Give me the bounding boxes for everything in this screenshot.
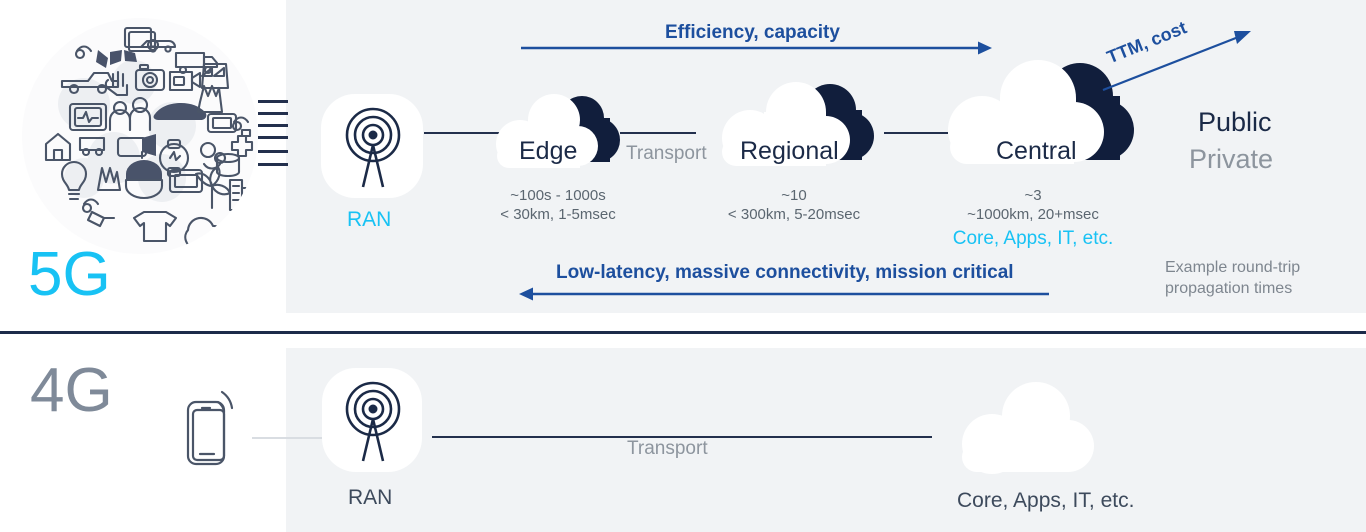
label-5g: 5G: [28, 244, 111, 306]
connector-stripe: [258, 112, 288, 115]
iot-collage-svg: .dv{fill:none;stroke:#4a5568;stroke-widt…: [22, 18, 258, 254]
panel-4g: [286, 348, 1366, 532]
central-count: ~3: [974, 186, 1092, 206]
connector-stripe: [258, 124, 288, 127]
transport-label-5g: Transport: [626, 143, 707, 165]
propagation-note-line2: propagation times: [1165, 278, 1345, 300]
efficiency-capacity-label: Efficiency, capacity: [665, 22, 840, 44]
edge-latency: < 30km, 1-5msec: [487, 205, 629, 225]
central-core-label: Core, Apps, IT, etc.: [944, 226, 1122, 252]
ran-label-4g: RAN: [348, 486, 392, 510]
edge-count: ~100s - 1000s: [499, 186, 617, 206]
cell-tower-icon: [342, 379, 404, 463]
link-phone-ran: [252, 437, 322, 439]
link-edge-regional: [620, 132, 696, 134]
smartphone-signal-icon: [180, 388, 252, 470]
propagation-note-line1: Example round-trip: [1165, 257, 1335, 279]
link-ran-edge: [424, 132, 502, 134]
cell-tower-icon: [341, 105, 405, 189]
edge-cloud-label: Edge: [519, 137, 577, 166]
regional-latency: < 300km, 5-20msec: [718, 205, 870, 225]
core-cloud-icon-4g: [950, 378, 1120, 476]
regional-count: ~10: [735, 186, 853, 206]
central-latency: ~1000km, 20+msec: [954, 205, 1112, 225]
core-label-4g: Core, Apps, IT, etc.: [957, 489, 1134, 513]
connector-stripe: [258, 150, 288, 153]
central-cloud-label: Central: [996, 137, 1077, 166]
deployment-public-label: Public: [1198, 107, 1272, 138]
ran-label-5g: RAN: [347, 208, 391, 232]
generation-divider: [0, 331, 1366, 334]
low-latency-label: Low-latency, massive connectivity, missi…: [556, 262, 1014, 284]
connector-stripe: [258, 136, 288, 139]
low-latency-arrow: [515, 284, 1055, 304]
connector-stripe: [258, 100, 288, 103]
connector-stripe: [258, 163, 288, 166]
transport-label-4g: Transport: [627, 438, 708, 460]
iot-devices-collage: .dv{fill:none;stroke:#4a5568;stroke-widt…: [22, 18, 258, 254]
regional-cloud-label: Regional: [740, 137, 839, 166]
deployment-private-label: Private: [1189, 144, 1273, 175]
label-4g: 4G: [30, 360, 113, 422]
diagram-root: .dv{fill:none;stroke:#4a5568;stroke-widt…: [0, 0, 1366, 532]
